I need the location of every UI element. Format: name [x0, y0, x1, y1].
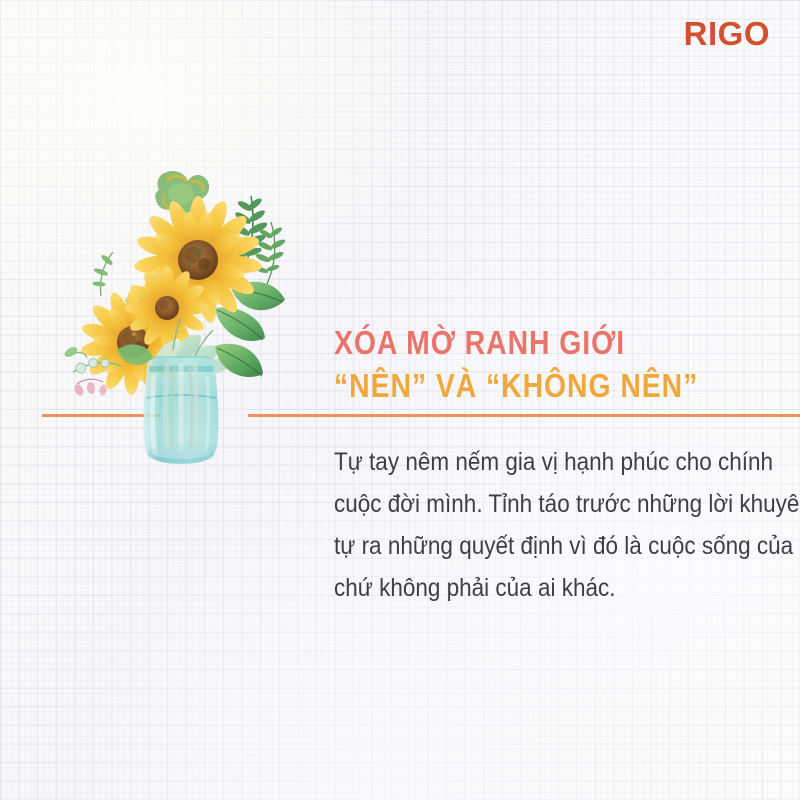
sunflower-jar-illustration: [55, 160, 305, 470]
text-content-block: XÓA MỜ RANH GIỚI “NÊN” VÀ “KHÔNG NÊN” Tự…: [334, 322, 784, 609]
body-paragraph: Tự tay nêm nếm gia vị hạnh phúc cho chín…: [334, 441, 757, 609]
body-line-3: tự ra những quyết định vì đó là cuộc sốn…: [334, 525, 757, 567]
body-line-1: Tự tay nêm nếm gia vị hạnh phúc cho chín…: [334, 441, 757, 483]
body-line-2: cuộc đời mình. Tỉnh táo trước những lời …: [334, 483, 757, 525]
body-line-4: chứ không phải của ai khác.: [334, 567, 757, 609]
rigo-logo: RIGO: [684, 17, 770, 50]
poster-canvas: RIGO: [0, 0, 800, 800]
headline-line-2: “NÊN” VÀ “KHÔNG NÊN”: [334, 365, 721, 407]
mason-jar: [144, 356, 219, 464]
headline-line-1: XÓA MỜ RANH GIỚI: [334, 322, 721, 364]
